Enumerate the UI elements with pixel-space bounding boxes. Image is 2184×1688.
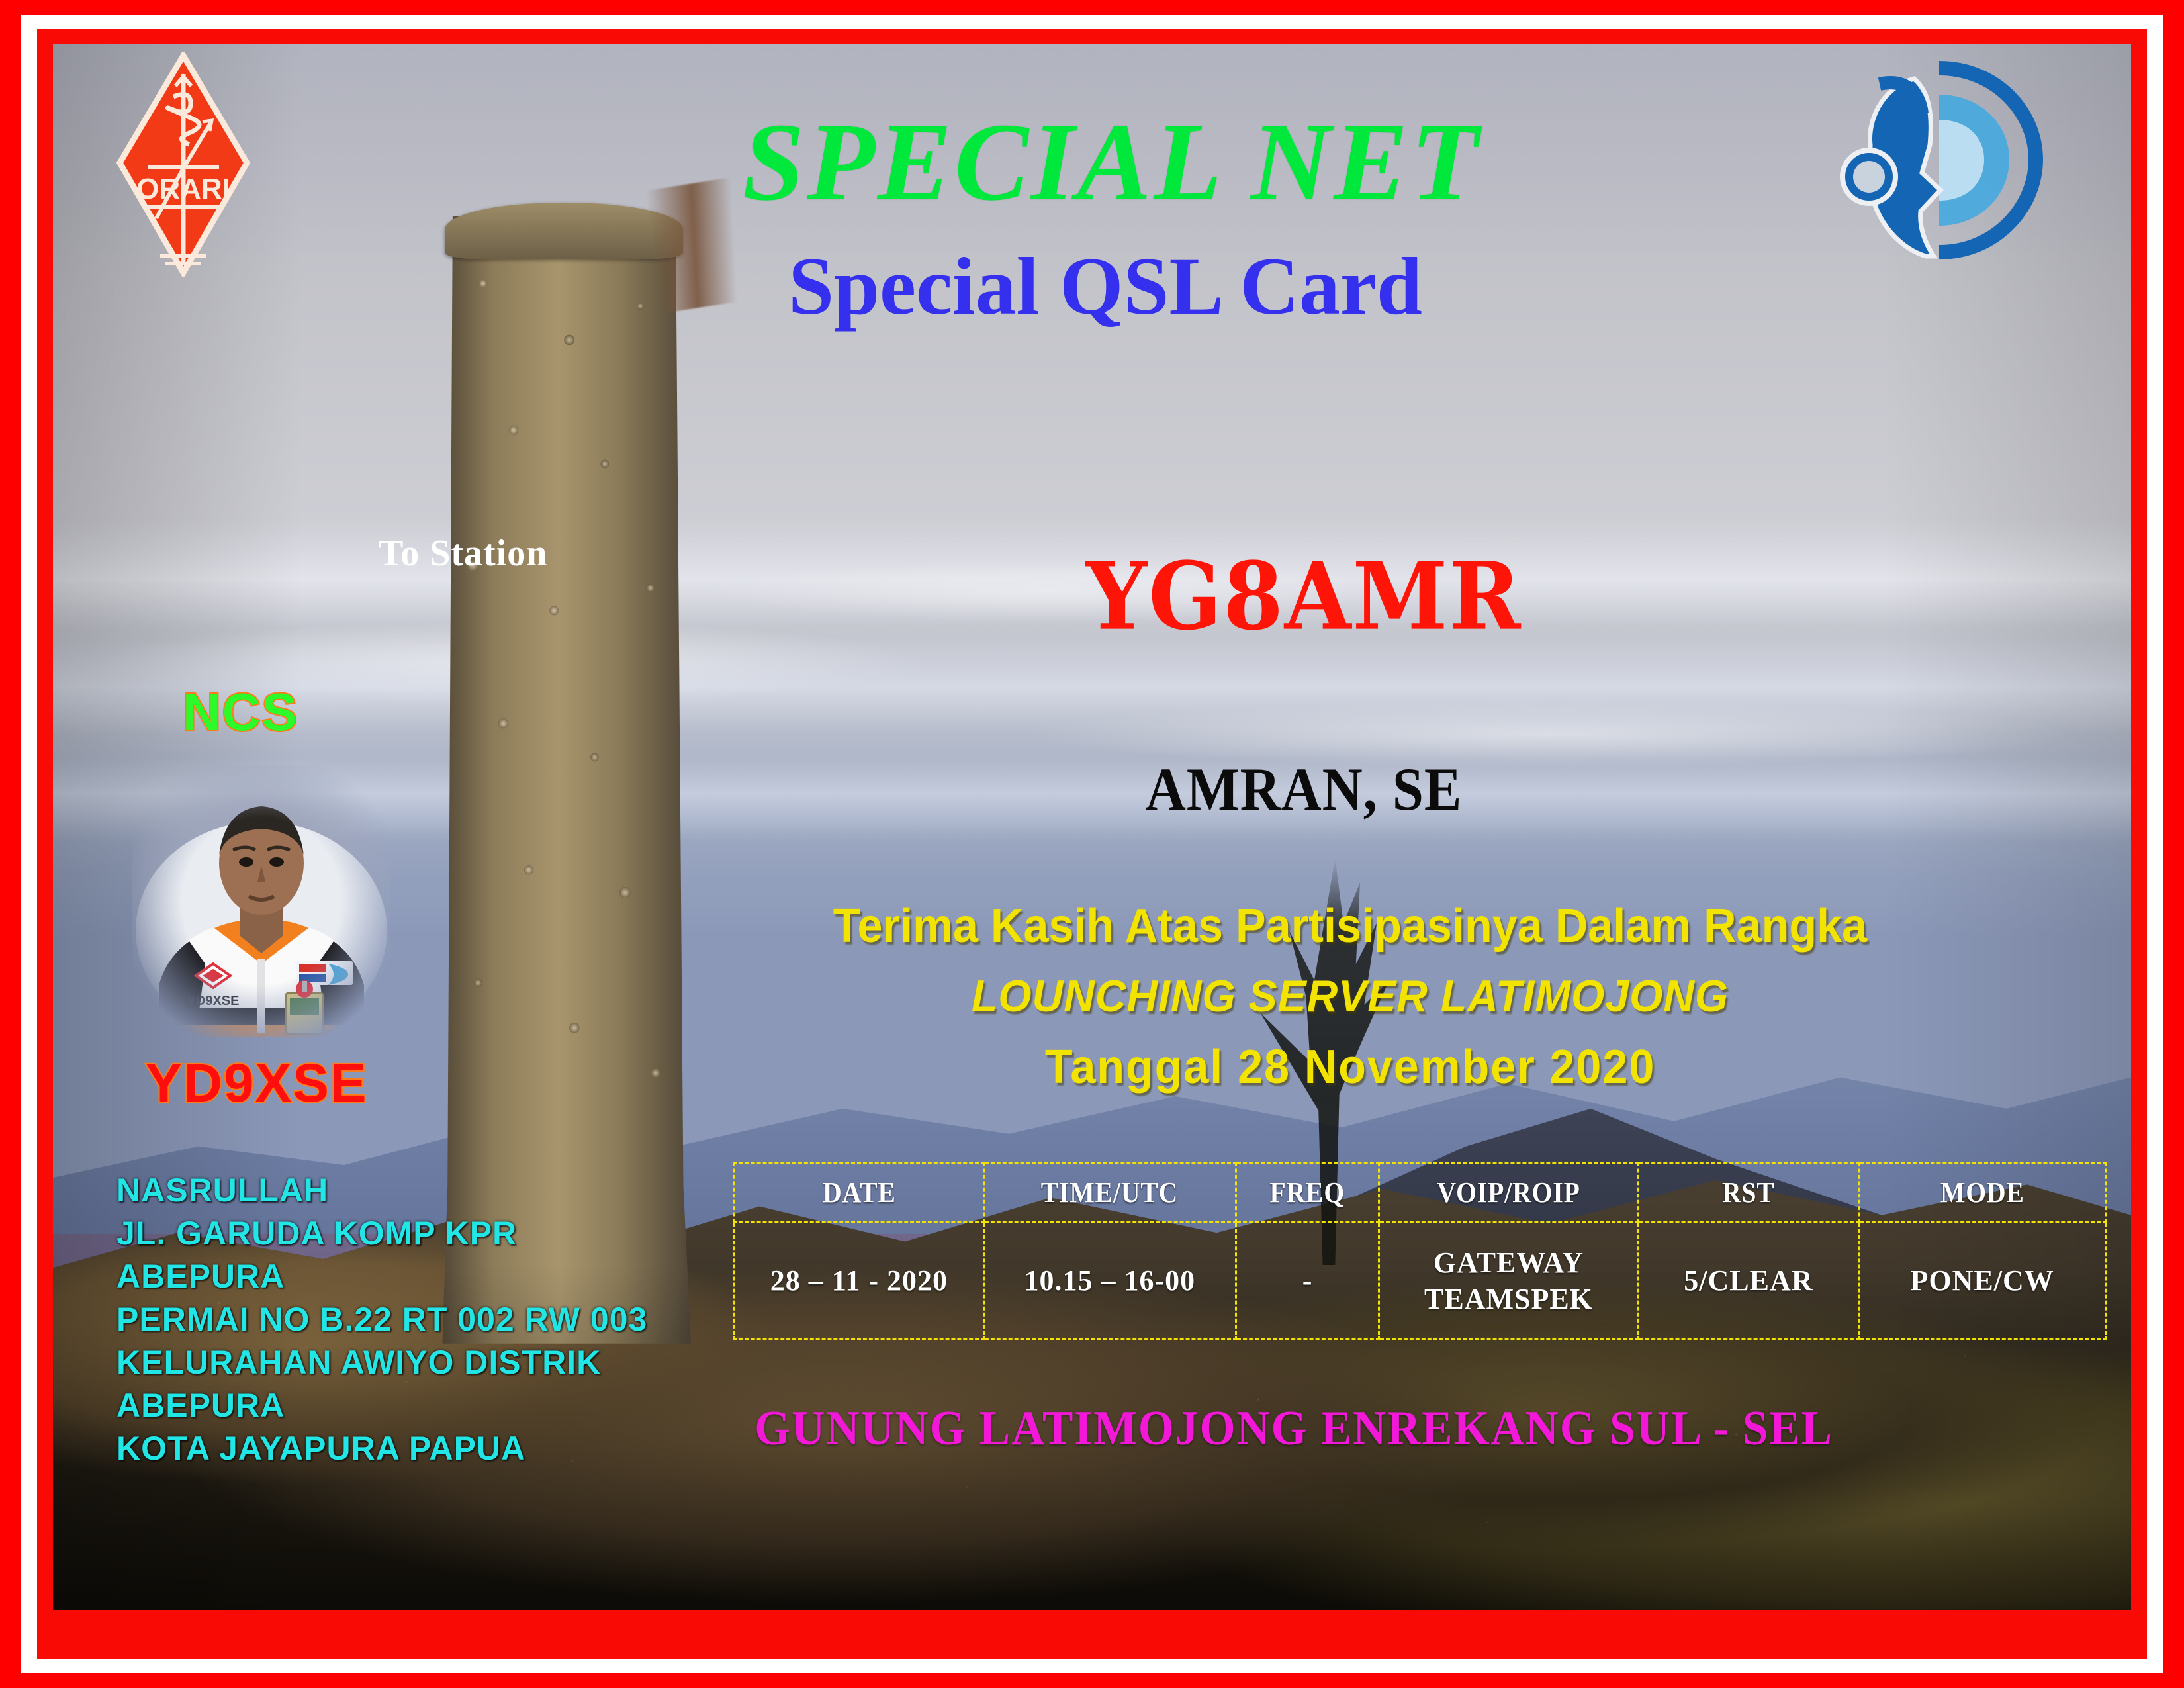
header-voip-roip: VOIP/ROIP [1392,1164,1625,1222]
thanks-line-2: LOUNCHING SERVER LATIMOJONG [784,970,1916,1022]
header-mode: MODE [1871,1164,2093,1222]
operator-name: AMRAN, SE [999,759,1608,820]
station-callsign: YG8AMR [973,550,1635,643]
card-background-photo: ORARI SPECIAL NET Special QSL Card To St… [53,44,2131,1610]
qso-data-table: DATE TIME/UTC FREQ VOIP/ROIP RST MODE 28… [733,1162,2107,1340]
cell-voip-roip: GATEWAY TEAMSPEK [1379,1222,1638,1340]
header-rst: RST [1649,1164,1848,1222]
address-line: ABEPURA [116,1255,647,1298]
card-content-overlay: ORARI SPECIAL NET Special QSL Card To St… [53,44,2131,1610]
ncs-callsign: YD9XSE [146,1056,368,1111]
page-title: SPECIAL NET [53,107,2131,218]
table-row: 28 – 11 - 2020 10.15 – 16-00 - GATEWAY T… [735,1222,2106,1340]
thanks-line-1: Terima Kasih Atas Partisipasinya Dalam R… [784,899,1916,953]
cell-voip-roip-line2: TEAMSPEK [1380,1281,1637,1317]
thanks-line-3: Tanggal 28 November 2020 [784,1040,1916,1094]
address-line: ABEPURA [116,1384,647,1427]
cell-freq: - [1236,1222,1379,1340]
address-line: KOTA JAYAPURA PAPUA [116,1427,647,1470]
cell-voip-roip-line1: GATEWAY [1380,1244,1637,1281]
address-line: KELURAHAN AWIYO DISTRIK [116,1341,647,1384]
table-header-row: DATE TIME/UTC FREQ VOIP/ROIP RST MODE [735,1164,2106,1222]
address-line: PERMAI NO B.22 RT 002 RW 003 [116,1298,647,1341]
cell-rst: 5/CLEAR [1638,1222,1859,1340]
cell-date: 28 – 11 - 2020 [735,1222,984,1340]
header-freq: FREQ [1243,1164,1372,1222]
uniform-callsign-badge: YD9XSE [187,994,240,1008]
address-line: NASRULLAH [116,1169,647,1212]
cell-time-utc: 10.15 – 16-00 [983,1222,1236,1340]
qsl-card: ORARI SPECIAL NET Special QSL Card To St… [0,0,2184,1688]
cell-mode: PONE/CW [1859,1222,2106,1340]
ncs-label: NCS [183,686,298,739]
page-subtitle: Special QSL Card [53,246,2131,328]
header-date: DATE [747,1164,971,1222]
to-station-label: To Station [379,535,547,572]
mailing-address: NASRULLAH JL. GARUDA KOMP KPR ABEPURA PE… [116,1169,647,1470]
address-line: JL. GARUDA KOMP KPR [116,1212,647,1255]
location-line: GUNUNG LATIMOJONG ENREKANG SUL - SEL [563,1404,2025,1453]
header-time-utc: TIME/UTC [996,1164,1223,1222]
avatar: YD9XSE [132,765,390,1037]
